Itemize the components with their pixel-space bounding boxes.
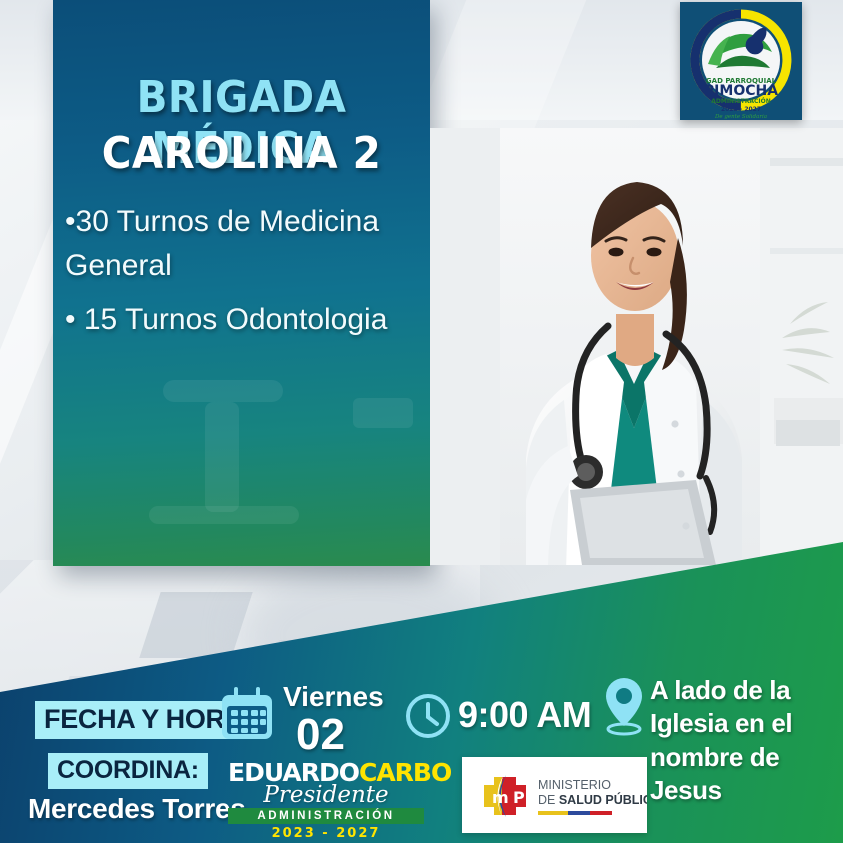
event-day-number: 02 [296, 710, 345, 760]
panel-ghost-shape-2 [205, 402, 239, 512]
info-panel: BRIGADA MÉDICA CAROLINA 2 •30 Turnos de … [53, 0, 430, 566]
event-time: 9:00 AM [458, 694, 591, 736]
doctor-photo [430, 128, 843, 565]
coordinator-name: Mercedes Torres [28, 793, 246, 825]
gad-logo-slogan: De gente Solidaria [714, 114, 767, 120]
gad-logo-admin: ADMINISTRACIÓN [711, 98, 771, 105]
event-location: A lado de la Iglesia en el nombre de Jes… [650, 674, 840, 807]
eduardo-carbo-badge: EDUARDOCARBO Presidente ADMINISTRACIÓN 2… [228, 760, 424, 832]
msp-line1: MINISTERIO [538, 778, 611, 792]
headline-secondary: CAROLINA 2 [68, 128, 415, 179]
clock-icon [404, 692, 452, 740]
service-bullet-dentistry: • 15 Turnos Odontologia [65, 298, 485, 342]
map-pin-icon [600, 676, 648, 738]
gad-logo-name: PIMOCHA [704, 83, 778, 99]
panel-ghost-shape-3 [149, 506, 299, 524]
panel-ghost-shape-4 [353, 398, 413, 428]
gad-logo-years: 2023 - 2027 [721, 106, 761, 113]
calendar-icon [219, 686, 275, 742]
event-day-name: Viernes [283, 681, 384, 713]
service-bullet-medicine: •30 Turnos de Medicina General [65, 200, 485, 287]
msp-logo: m P MINISTERIO DE SALUD PÚBLICA [462, 757, 647, 833]
svg-text:m: m [492, 788, 509, 807]
svg-text:P: P [513, 788, 525, 807]
coordinator-label: COORDINA: [48, 753, 208, 789]
panel-ghost-shape-1 [163, 380, 283, 402]
msp-line2: DE SALUD PÚBLICA [538, 792, 647, 807]
gad-pimocha-logo: GAD PARROQUIAL PIMOCHA ADMINISTRACIÓN 20… [680, 2, 802, 120]
medical-brigade-poster: BRIGADA MÉDICA CAROLINA 2 •30 Turnos de … [0, 0, 843, 843]
carbo-years: 2023 - 2027 [228, 826, 424, 841]
carbo-administration: ADMINISTRACIÓN [228, 808, 424, 824]
